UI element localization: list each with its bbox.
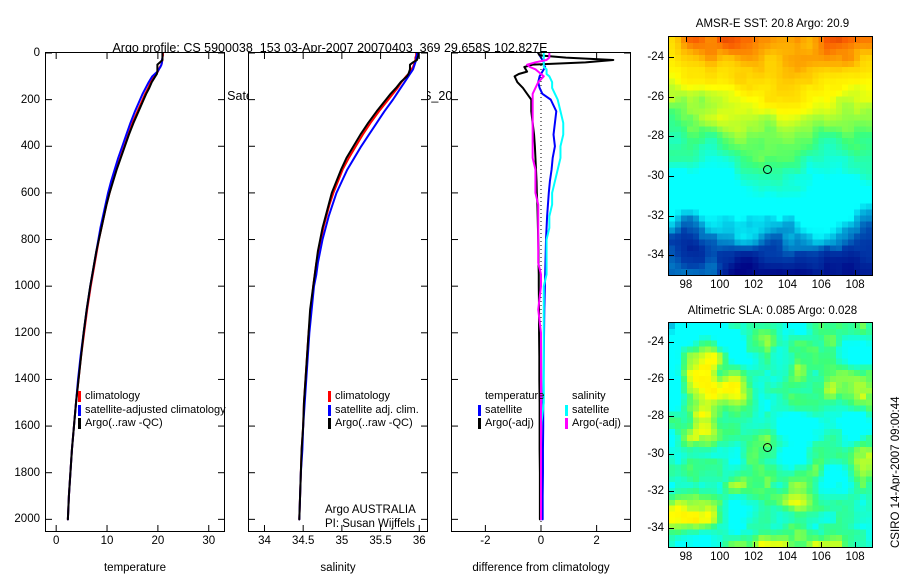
difference-profile-panel xyxy=(451,52,631,532)
map-y-tick-label: -34 xyxy=(0,522,664,534)
x-tick-label: 34 xyxy=(258,535,271,547)
map-x-tick xyxy=(720,323,721,328)
map-y-tick-label: -26 xyxy=(0,373,664,385)
map-y-tick xyxy=(669,97,674,98)
sst-profile-location-marker xyxy=(763,165,772,174)
map-x-tick xyxy=(821,37,822,42)
map-x-tick-label: 98 xyxy=(680,279,693,291)
map-y-tick-label: -34 xyxy=(0,249,664,261)
map-y-tick xyxy=(669,342,674,343)
map-x-tick xyxy=(720,542,721,547)
sla-map-raster xyxy=(669,323,872,547)
map-y-tick-label: -24 xyxy=(0,336,664,348)
map-x-tick xyxy=(855,37,856,42)
map-y-tick-label: -24 xyxy=(0,51,664,63)
map-x-tick-label: 108 xyxy=(845,551,864,563)
difference-axis-label: difference from climatology xyxy=(431,562,651,574)
legend-header-salinity: salinity xyxy=(565,390,621,404)
map-x-tick-label: 100 xyxy=(710,279,729,291)
map-x-tick-label: 100 xyxy=(710,551,729,563)
x-tick-label: 0 xyxy=(53,535,59,547)
x-tick-label: 36 xyxy=(413,535,426,547)
map-x-tick xyxy=(821,270,822,275)
x-tick-label: 35 xyxy=(335,535,348,547)
credit-line-1: Argo AUSTRALIA xyxy=(325,503,416,517)
legend-swatch-climatology xyxy=(78,391,81,402)
sst-map-raster xyxy=(669,37,872,275)
figure-canvas: Argo profile: CS 5900038_153 03-Apr-2007… xyxy=(0,0,900,580)
map-x-tick xyxy=(821,323,822,328)
sla-profile-location-marker xyxy=(763,443,772,452)
y-tick-label: 600 xyxy=(0,187,40,199)
map-x-tick-label: 98 xyxy=(680,551,693,563)
map-x-tick-label: 108 xyxy=(845,279,864,291)
map-x-tick-label: 102 xyxy=(744,279,763,291)
salinity-axis-label: salinity xyxy=(248,562,428,574)
map-y-tick-label: -28 xyxy=(0,130,664,142)
map-y-tick xyxy=(669,491,674,492)
map-y-tick-label: -30 xyxy=(0,448,664,460)
y-tick-label: 800 xyxy=(0,234,40,246)
legend-row: climatology xyxy=(328,390,419,404)
map-x-tick xyxy=(720,37,721,42)
map-x-tick xyxy=(686,37,687,42)
y-tick-label: 1000 xyxy=(0,280,40,292)
map-x-tick xyxy=(754,323,755,328)
sst-map-panel xyxy=(668,36,873,276)
temperature-profile-panel xyxy=(45,52,225,532)
map-x-tick-label: 106 xyxy=(812,551,831,563)
map-x-tick-label: 102 xyxy=(744,551,763,563)
map-x-tick xyxy=(855,270,856,275)
y-tick-label: 1800 xyxy=(0,467,40,479)
x-tick-label: 34.5 xyxy=(292,535,314,547)
sla-map-panel xyxy=(668,322,873,548)
map-y-tick xyxy=(669,416,674,417)
map-y-tick xyxy=(669,454,674,455)
map-y-tick xyxy=(669,176,674,177)
map-x-tick xyxy=(787,37,788,42)
map-x-tick xyxy=(787,542,788,547)
map-x-tick-label: 104 xyxy=(778,551,797,563)
x-tick-label: 35.5 xyxy=(369,535,391,547)
map-x-tick xyxy=(686,323,687,328)
map-x-tick xyxy=(787,323,788,328)
map-x-tick xyxy=(821,542,822,547)
salinity-profile-panel xyxy=(248,52,428,532)
legend-swatch-climatology xyxy=(328,391,331,402)
x-tick-label: 10 xyxy=(101,535,114,547)
map-x-tick xyxy=(787,270,788,275)
map-x-tick xyxy=(686,542,687,547)
map-x-tick xyxy=(754,270,755,275)
legend-label-climatology: climatology xyxy=(335,390,390,404)
x-tick-label: 0 xyxy=(538,535,544,547)
map-x-tick xyxy=(855,323,856,328)
map-x-tick xyxy=(686,270,687,275)
map-y-tick-label: -28 xyxy=(0,410,664,422)
map-y-tick xyxy=(669,255,674,256)
sst-map-title: AMSR-E SST: 20.8 Argo: 20.9 xyxy=(665,18,880,30)
map-y-tick-label: -32 xyxy=(0,210,664,222)
map-x-tick-label: 106 xyxy=(812,279,831,291)
legend-label-climatology: climatology xyxy=(85,390,140,404)
map-x-tick xyxy=(720,270,721,275)
csiro-timestamp: CSIRO 14-Apr-2007 09:00:44 xyxy=(890,396,900,548)
map-x-tick xyxy=(754,37,755,42)
map-y-tick xyxy=(669,136,674,137)
map-y-tick-label: -30 xyxy=(0,170,664,182)
x-tick-label: 30 xyxy=(202,535,215,547)
map-x-tick xyxy=(855,542,856,547)
map-y-tick-label: -26 xyxy=(0,91,664,103)
legend-header-temperature: temperature xyxy=(478,390,544,404)
map-y-tick xyxy=(669,528,674,529)
sla-map-title: Altimetric SLA: 0.085 Argo: 0.028 xyxy=(665,305,880,317)
map-x-tick xyxy=(754,542,755,547)
map-y-tick xyxy=(669,57,674,58)
x-tick-label: 20 xyxy=(151,535,164,547)
map-x-tick-label: 104 xyxy=(778,279,797,291)
temperature-axis-label: temperature xyxy=(45,562,225,574)
x-tick-label: 2 xyxy=(593,535,599,547)
legend-row: climatology xyxy=(78,390,226,404)
x-tick-label: -2 xyxy=(480,535,490,547)
map-y-tick xyxy=(669,216,674,217)
map-y-tick xyxy=(669,379,674,380)
map-y-tick-label: -32 xyxy=(0,485,664,497)
